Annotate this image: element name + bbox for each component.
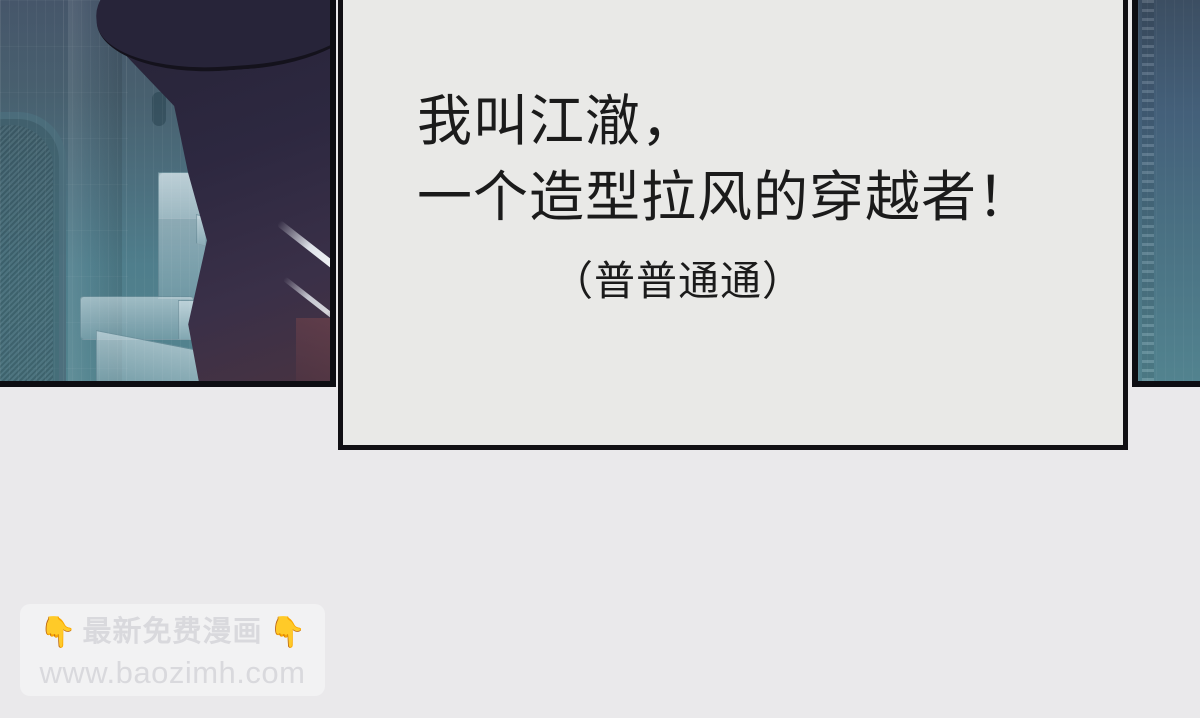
dialogue-line-1: 我叫江澈， [343,83,1123,159]
watermark-url[interactable]: www.baozimh.com [40,657,306,688]
speech-bubble: 我叫江澈， 一个造型拉风的穿越者！ （普普通通） [338,0,1128,450]
dialogue-line-2: 一个造型拉风的穿越者！ [343,159,1123,235]
dialogue-subtext: （普普通通） [343,251,1123,311]
figure-warm-shadow [296,318,330,381]
comic-page: 我叫江澈， 一个造型拉风的穿越者！ （普普通通） 👇 最新免费漫画 👇 www.… [0,0,1200,718]
pointing-down-hand-icon: 👇 [39,618,76,648]
comic-art-panel-right [1132,0,1200,387]
watermark-label: 最新免费漫画 [82,618,262,647]
art-panel-left-inner [0,0,330,381]
comic-art-panel-left [0,0,336,387]
rain-streaks [1138,0,1200,381]
watermark-top-row: 👇 最新免费漫画 👇 [39,613,306,653]
pointing-down-hand-icon: 👇 [269,618,306,648]
site-watermark[interactable]: 👇 最新免费漫画 👇 www.baozimh.com [20,604,325,696]
speech-bubble-text: 我叫江澈， 一个造型拉风的穿越者！ （普普通通） [343,83,1123,311]
